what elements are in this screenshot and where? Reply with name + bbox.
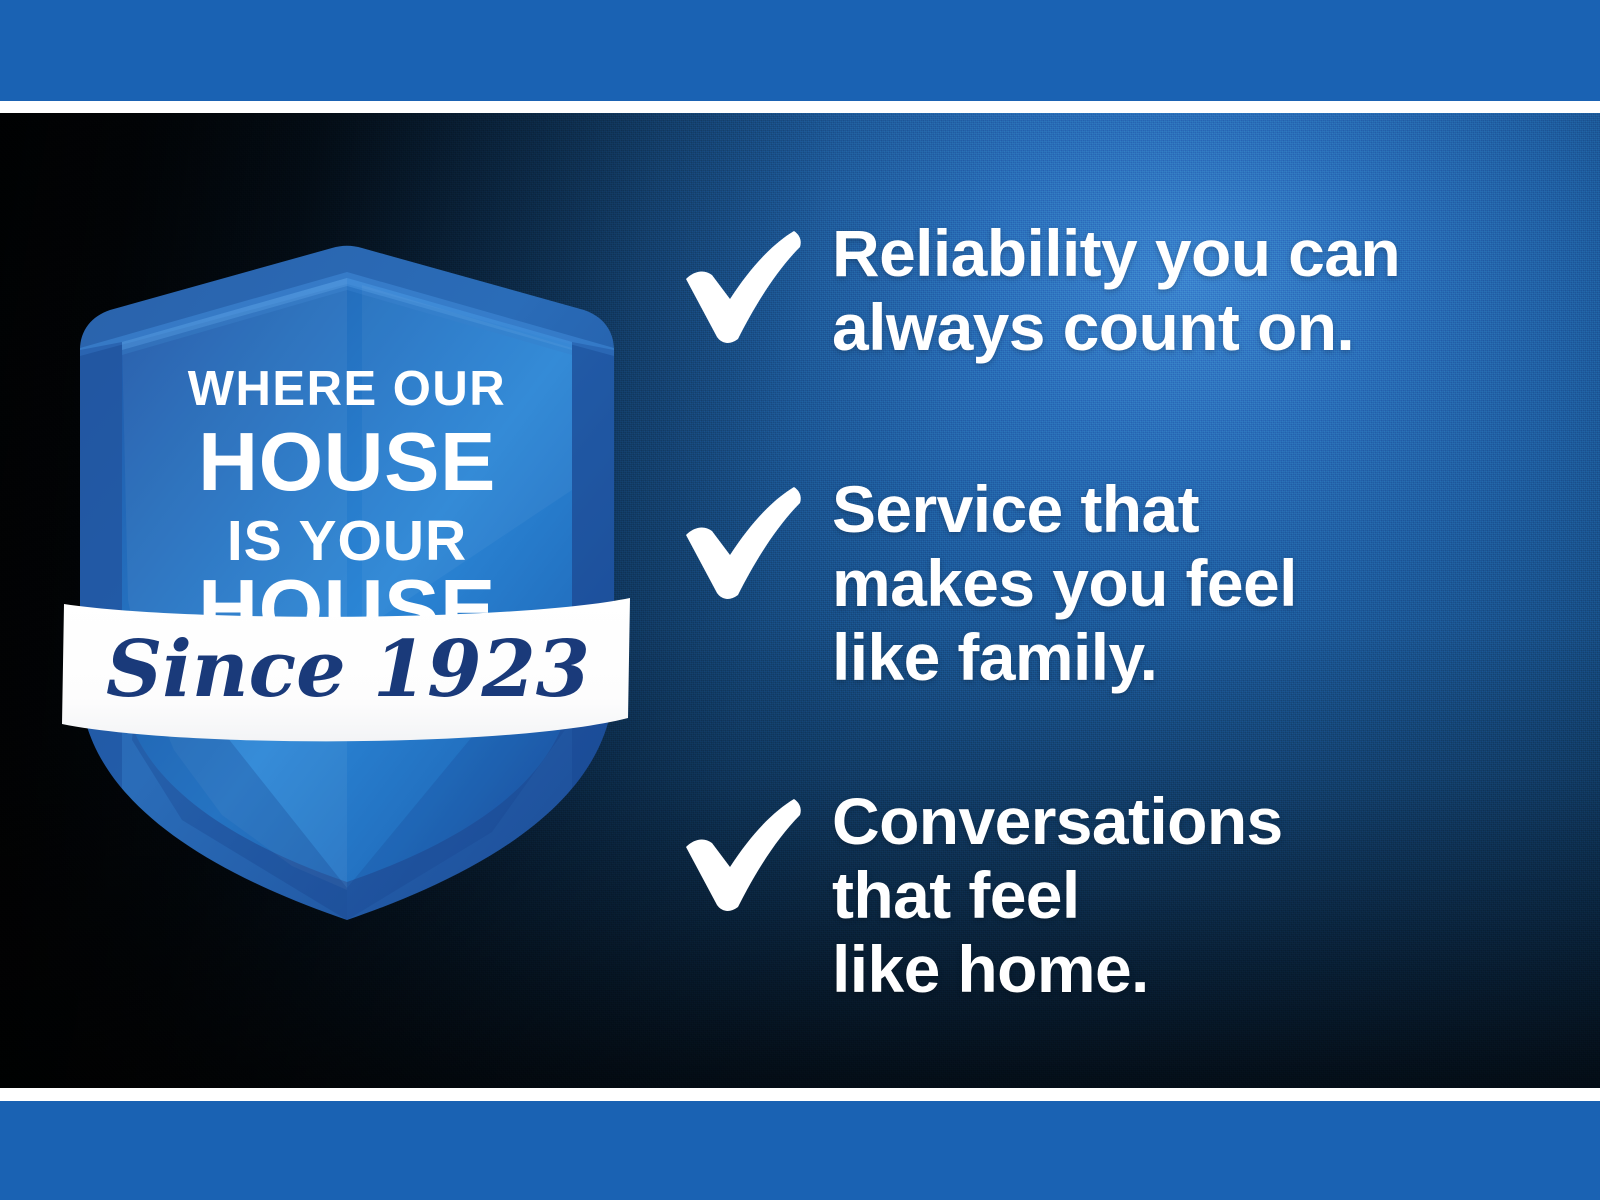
- checklist-item-1: Reliability you can always count on.: [668, 217, 1400, 365]
- checklist-item-1-text: Reliability you can always count on.: [832, 217, 1400, 365]
- since-banner: Since 1923: [62, 598, 630, 741]
- checkmark-icon: [668, 789, 808, 919]
- badge-line-1: WHERE OUR: [188, 362, 506, 416]
- shield-badge-logo: WHERE OUR HOUSE IS YOUR HOUSE Since 1923: [62, 160, 632, 950]
- checklist-item-2: Service that makes you feel like family.: [668, 473, 1297, 695]
- benefits-checklist: Reliability you can always count on. Ser…: [668, 113, 1528, 1088]
- promo-graphic: WHERE OUR HOUSE IS YOUR HOUSE Since 1923…: [0, 0, 1600, 1200]
- bottom-brand-bar: [0, 1101, 1600, 1200]
- checklist-item-3: Conversations that feel like home.: [668, 785, 1283, 1007]
- banner-text: Since 1923: [106, 624, 590, 715]
- top-brand-bar: [0, 0, 1600, 101]
- checklist-item-2-text: Service that makes you feel like family.: [832, 473, 1297, 695]
- checkmark-icon: [668, 477, 808, 607]
- checkmark-icon: [668, 221, 808, 351]
- badge-line-2: HOUSE: [198, 415, 496, 508]
- checklist-item-3-text: Conversations that feel like home.: [832, 785, 1283, 1007]
